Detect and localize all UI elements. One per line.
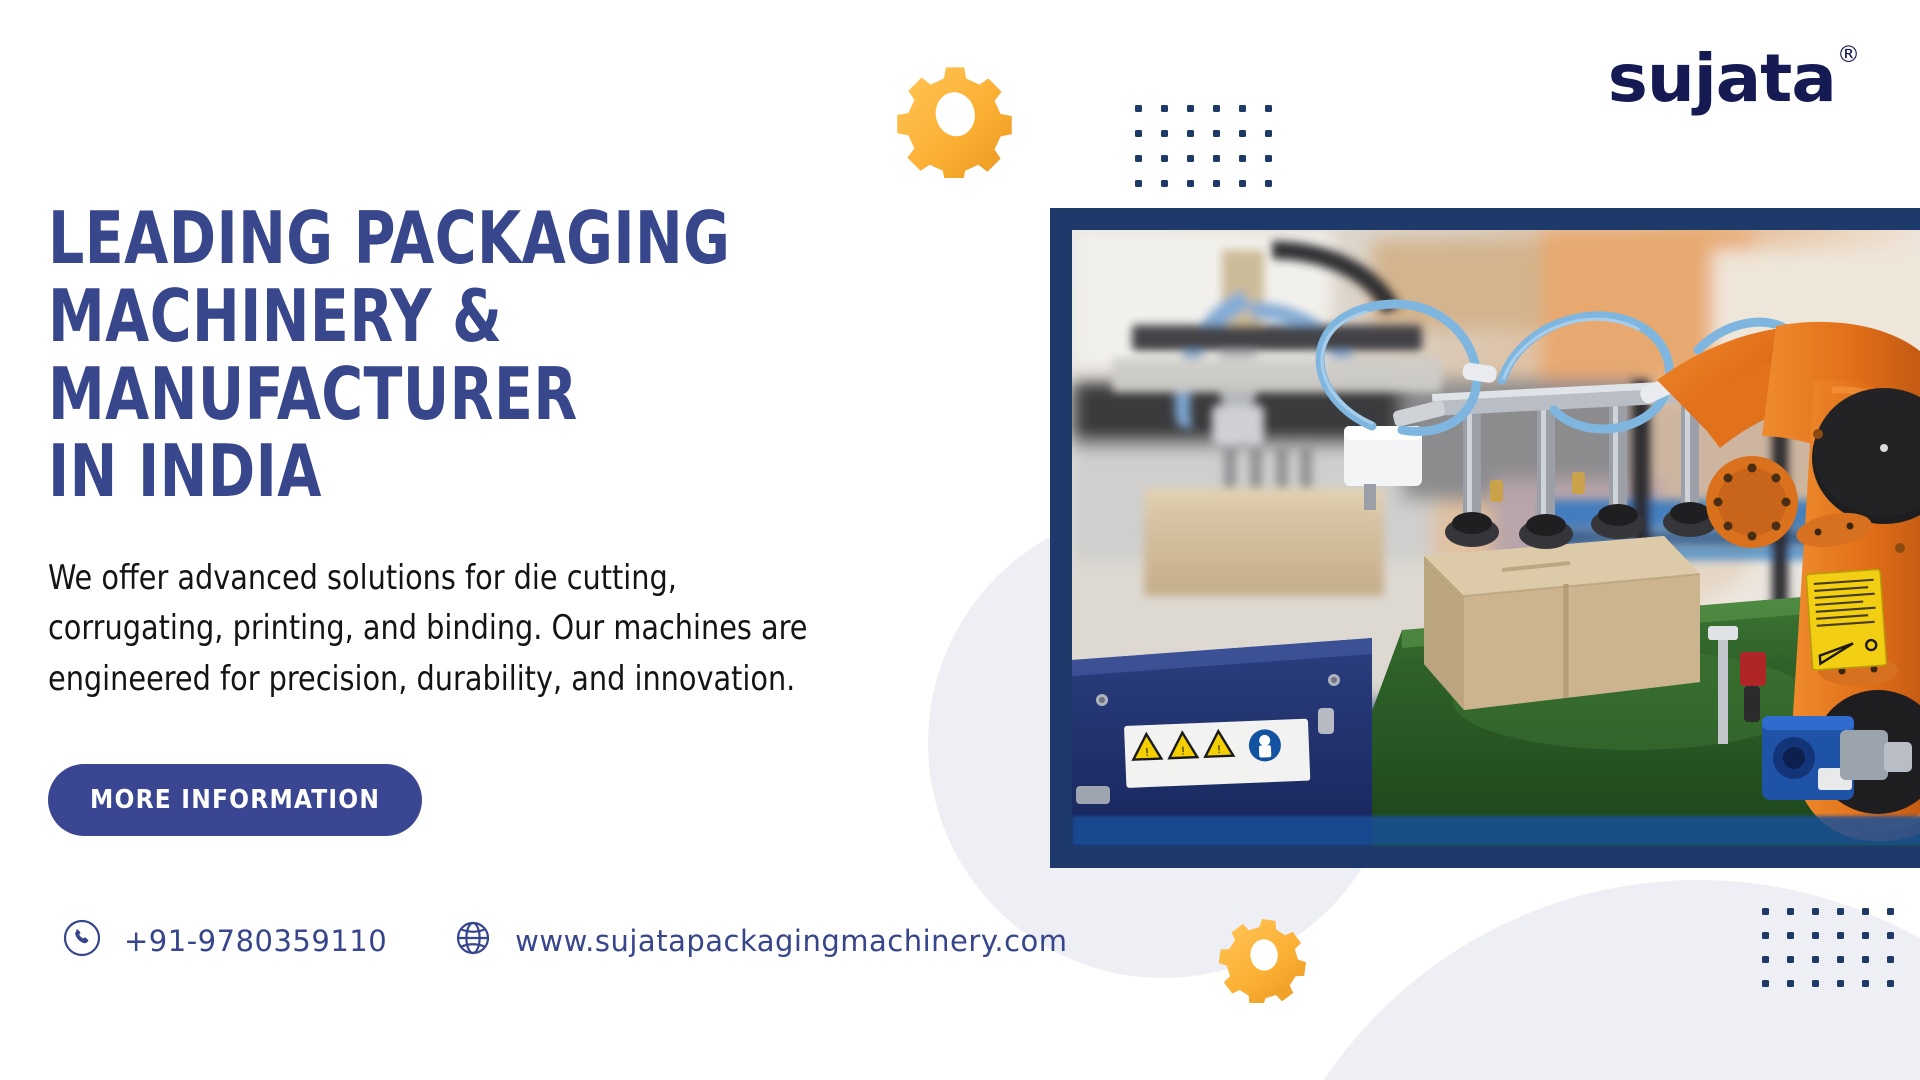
website-url: www.sujatapackagingmachinery.com: [515, 924, 1067, 958]
globe-icon: [453, 918, 493, 963]
brand-logo[interactable]: sujata ®: [1610, 48, 1860, 111]
dot-grid-bottom: [1762, 908, 1912, 1004]
hero-photo-frame: ! ! !: [1050, 208, 1920, 868]
contact-phone[interactable]: +91-9780359110: [62, 918, 387, 963]
svg-text:!: !: [1145, 746, 1150, 759]
contact-website[interactable]: www.sujatapackagingmachinery.com: [453, 918, 1067, 963]
more-information-button[interactable]: MORE INFORMATION: [48, 764, 422, 836]
hero-description: We offer advanced solutions for die cutt…: [48, 553, 969, 704]
gear-icon-bottom: [1215, 905, 1313, 1003]
hero-content: LEADING PACKAGING MACHINERY & MANUFACTUR…: [48, 200, 1058, 836]
dot-grid-top: [1135, 105, 1291, 205]
hero-banner: sujata ® LEADING PACKAGING MACHINERY & M…: [0, 0, 1920, 1080]
gear-icon-top: [890, 48, 1020, 178]
svg-text:!: !: [1217, 743, 1222, 756]
hero-photo: ! ! !: [1072, 230, 1920, 846]
logo-wordmark: sujata: [1608, 48, 1836, 111]
contact-bar: +91-9780359110 www.sujatapackagingmachin…: [62, 918, 1068, 963]
phone-number: +91-9780359110: [124, 924, 387, 958]
svg-text:!: !: [1181, 745, 1186, 758]
page-title: LEADING PACKAGING MACHINERY & MANUFACTUR…: [48, 200, 937, 511]
factory-robot-photo: ! ! !: [1072, 230, 1920, 846]
phone-circle-icon: [62, 918, 102, 963]
registered-trademark-icon: ®: [1837, 42, 1860, 68]
